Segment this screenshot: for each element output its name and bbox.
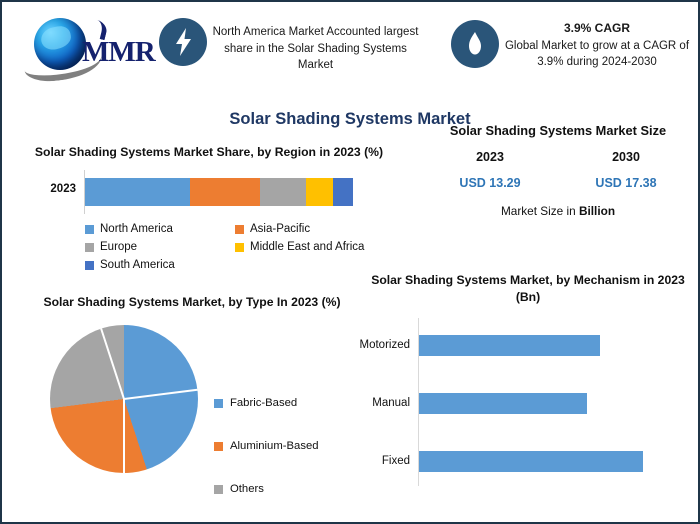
north-america-callout-text: North America Market Accounted largest s… xyxy=(213,26,419,71)
market-size-unit-bold: Billion xyxy=(579,204,615,218)
type-legend: Fabric-BasedAluminium-BasedOthers xyxy=(214,317,319,497)
mechanism-bar xyxy=(419,451,643,472)
market-size-years: 2023 2030 xyxy=(422,150,694,164)
mechanism-category-label: Manual xyxy=(358,390,410,416)
region-legend-row: North AmericaAsia-Pacific xyxy=(24,220,394,238)
type-legend-item: Others xyxy=(214,481,319,497)
region-segment-2 xyxy=(260,178,307,206)
legend-swatch-icon xyxy=(85,261,94,270)
region-legend-item: Europe xyxy=(85,241,235,253)
logo-brand-text: MMR xyxy=(82,36,155,69)
mechanism-bar xyxy=(419,393,587,414)
legend-swatch-icon xyxy=(85,225,94,234)
market-size-values: USD 13.29 USD 17.38 xyxy=(422,176,694,190)
type-chart-plot: Fabric-BasedAluminium-BasedOthers xyxy=(22,317,362,487)
region-legend-label: North America xyxy=(100,223,173,235)
region-legend-item: South America xyxy=(85,259,235,271)
cagr-callout: 3.9% CAGR Global Market to grow at a CAG… xyxy=(502,20,692,71)
legend-swatch-icon xyxy=(214,399,223,408)
region-legend-row: South America xyxy=(24,256,394,274)
region-legend-item: Asia-Pacific xyxy=(235,223,385,235)
type-chart-title: Solar Shading Systems Market, by Type In… xyxy=(22,294,362,311)
region-category-label: 2023 xyxy=(24,183,76,195)
region-segment-4 xyxy=(333,178,353,206)
mechanism-chart-plot: MotorizedManualFixed xyxy=(358,318,698,488)
market-size-title: Solar Shading Systems Market Size xyxy=(422,122,694,140)
flame-icon xyxy=(451,20,499,68)
north-america-callout: North America Market Accounted largest s… xyxy=(208,24,423,74)
legend-swatch-icon xyxy=(85,243,94,252)
market-size-year-2023: 2023 xyxy=(422,150,558,164)
type-pie xyxy=(50,325,198,473)
legend-swatch-icon xyxy=(214,485,223,494)
region-segment-3 xyxy=(306,178,332,206)
type-legend-label: Others xyxy=(230,483,264,495)
cagr-callout-text: Global Market to grow at a CAGR of 3.9% … xyxy=(505,40,689,69)
cagr-headline: 3.9% CAGR xyxy=(502,20,692,37)
region-chart-title: Solar Shading Systems Market Share, by R… xyxy=(24,144,394,161)
region-segment-0 xyxy=(85,178,190,206)
region-chart-plot: 2023 xyxy=(24,170,394,214)
region-stacked-bar xyxy=(85,178,353,206)
market-size-unit-prefix: Market Size in xyxy=(501,204,579,218)
mechanism-bar xyxy=(419,335,600,356)
type-share-chart: Solar Shading Systems Market, by Type In… xyxy=(22,294,362,487)
market-size-value-2023: USD 13.29 xyxy=(422,176,558,190)
region-share-chart: Solar Shading Systems Market Share, by R… xyxy=(24,144,394,274)
region-legend-label: Asia-Pacific xyxy=(250,223,310,235)
region-legend-label: Middle East and Africa xyxy=(250,241,364,253)
legend-swatch-icon xyxy=(235,225,244,234)
legend-swatch-icon xyxy=(235,243,244,252)
mechanism-category-label: Fixed xyxy=(358,448,410,474)
market-size-panel: Solar Shading Systems Market Size 2023 2… xyxy=(422,122,694,218)
lightning-bolt-icon xyxy=(159,18,207,66)
region-segment-1 xyxy=(190,178,260,206)
region-legend-item: Middle East and Africa xyxy=(235,241,385,253)
pie-separator xyxy=(100,328,125,399)
mechanism-category-label: Motorized xyxy=(358,332,410,358)
market-size-value-2030: USD 17.38 xyxy=(558,176,694,190)
market-size-unit: Market Size in Billion xyxy=(422,204,694,218)
region-legend-label: South America xyxy=(100,259,175,271)
region-legend-item: North America xyxy=(85,223,235,235)
pie-separator xyxy=(123,399,125,473)
type-legend-item: Aluminium-Based xyxy=(214,438,319,454)
mechanism-chart-title: Solar Shading Systems Market, by Mechani… xyxy=(358,272,698,306)
mechanism-chart: Solar Shading Systems Market, by Mechani… xyxy=(358,272,698,488)
type-legend-item: Fabric-Based xyxy=(214,395,319,411)
legend-swatch-icon xyxy=(214,442,223,451)
type-legend-label: Aluminium-Based xyxy=(230,440,319,452)
infographic-frame: MMR North America Market Accounted large… xyxy=(0,0,700,524)
pie-separator xyxy=(124,389,198,400)
mmr-logo: MMR xyxy=(20,12,152,74)
type-legend-label: Fabric-Based xyxy=(230,397,297,409)
header-bar: MMR North America Market Accounted large… xyxy=(2,2,698,88)
region-legend-row: EuropeMiddle East and Africa xyxy=(24,238,394,256)
region-legend: North AmericaAsia-PacificEuropeMiddle Ea… xyxy=(24,220,394,274)
market-size-year-2030: 2030 xyxy=(558,150,694,164)
region-legend-label: Europe xyxy=(100,241,137,253)
